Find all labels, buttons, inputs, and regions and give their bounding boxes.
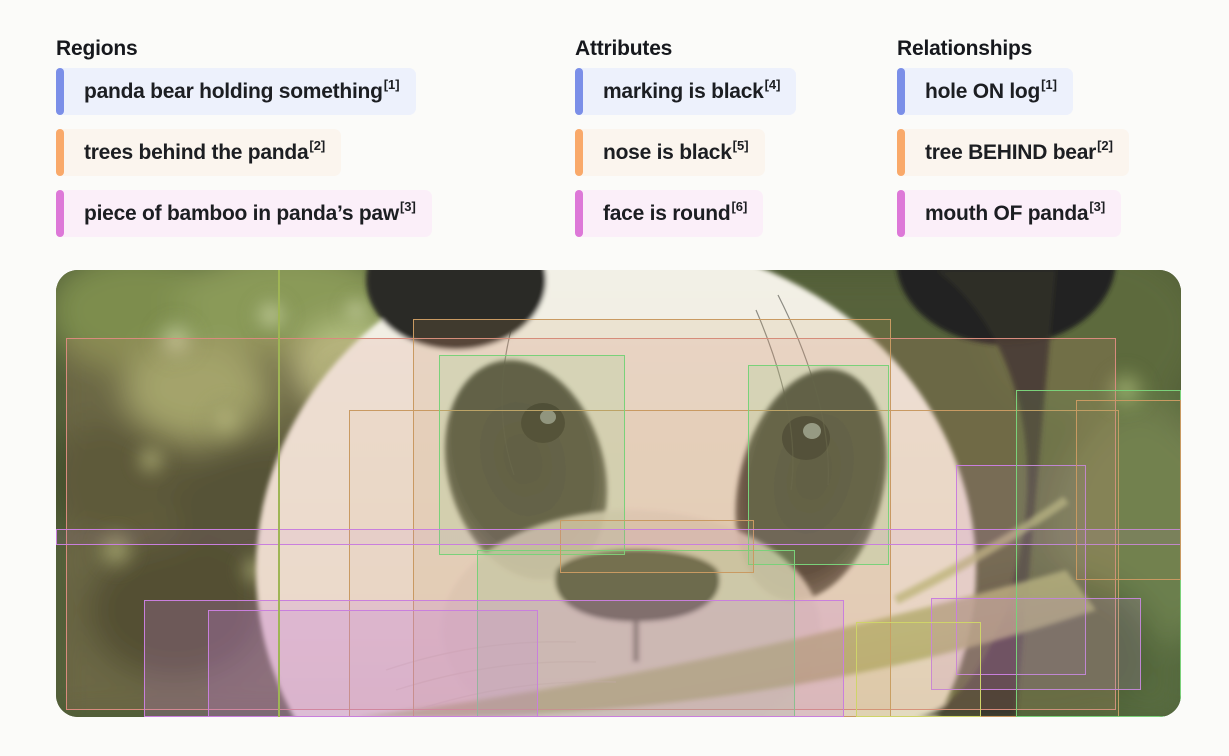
chip-region-2[interactable]: trees behind the panda[2] (56, 129, 341, 176)
chip-relationship-3[interactable]: mouth OF panda[3] (897, 190, 1121, 237)
chip-accent-bar-pink (56, 190, 64, 237)
chip-label: tree BEHIND bear (925, 142, 1096, 163)
chip-attribute-2[interactable]: nose is black[5] (575, 129, 765, 176)
column-relationships: Relationships hole ON log[1] tree BEHIND… (897, 36, 1129, 251)
chip-relationship-1[interactable]: hole ON log[1] (897, 68, 1073, 115)
chip-attribute-3[interactable]: face is round[6] (575, 190, 763, 237)
chip-label: marking is black (603, 81, 764, 102)
column-title-relationships: Relationships (897, 36, 1129, 62)
chip-label: face is round (603, 203, 730, 224)
chip-region-1[interactable]: panda bear holding something[1] (56, 68, 416, 115)
chip-accent-bar-pink (897, 190, 905, 237)
chip-accent-bar-orange (56, 129, 64, 176)
chip-accent-bar-orange (897, 129, 905, 176)
annotated-photo[interactable] (56, 270, 1181, 717)
chip-accent-bar-orange (575, 129, 583, 176)
chip-accent-bar-pink (575, 190, 583, 237)
chip-accent-bar-blue (897, 68, 905, 115)
chip-label: hole ON log (925, 81, 1040, 102)
chip-label: nose is black (603, 142, 732, 163)
column-title-regions: Regions (56, 36, 432, 62)
column-regions: Regions panda bear holding something[1] … (56, 36, 432, 251)
column-attributes: Attributes marking is black[4] nose is b… (575, 36, 796, 251)
chip-label: piece of bamboo in panda’s paw (84, 203, 399, 224)
chip-label: trees behind the panda (84, 142, 308, 163)
chip-label: panda bear holding something (84, 81, 383, 102)
chip-attribute-1[interactable]: marking is black[4] (575, 68, 796, 115)
column-title-attributes: Attributes (575, 36, 796, 62)
page-root: Regions panda bear holding something[1] … (0, 0, 1229, 756)
chip-region-3[interactable]: piece of bamboo in panda’s paw[3] (56, 190, 432, 237)
chip-accent-bar-blue (56, 68, 64, 115)
chip-relationship-2[interactable]: tree BEHIND bear[2] (897, 129, 1129, 176)
chip-label: mouth OF panda (925, 203, 1088, 224)
panda-photo-image (56, 270, 1181, 717)
chip-accent-bar-blue (575, 68, 583, 115)
